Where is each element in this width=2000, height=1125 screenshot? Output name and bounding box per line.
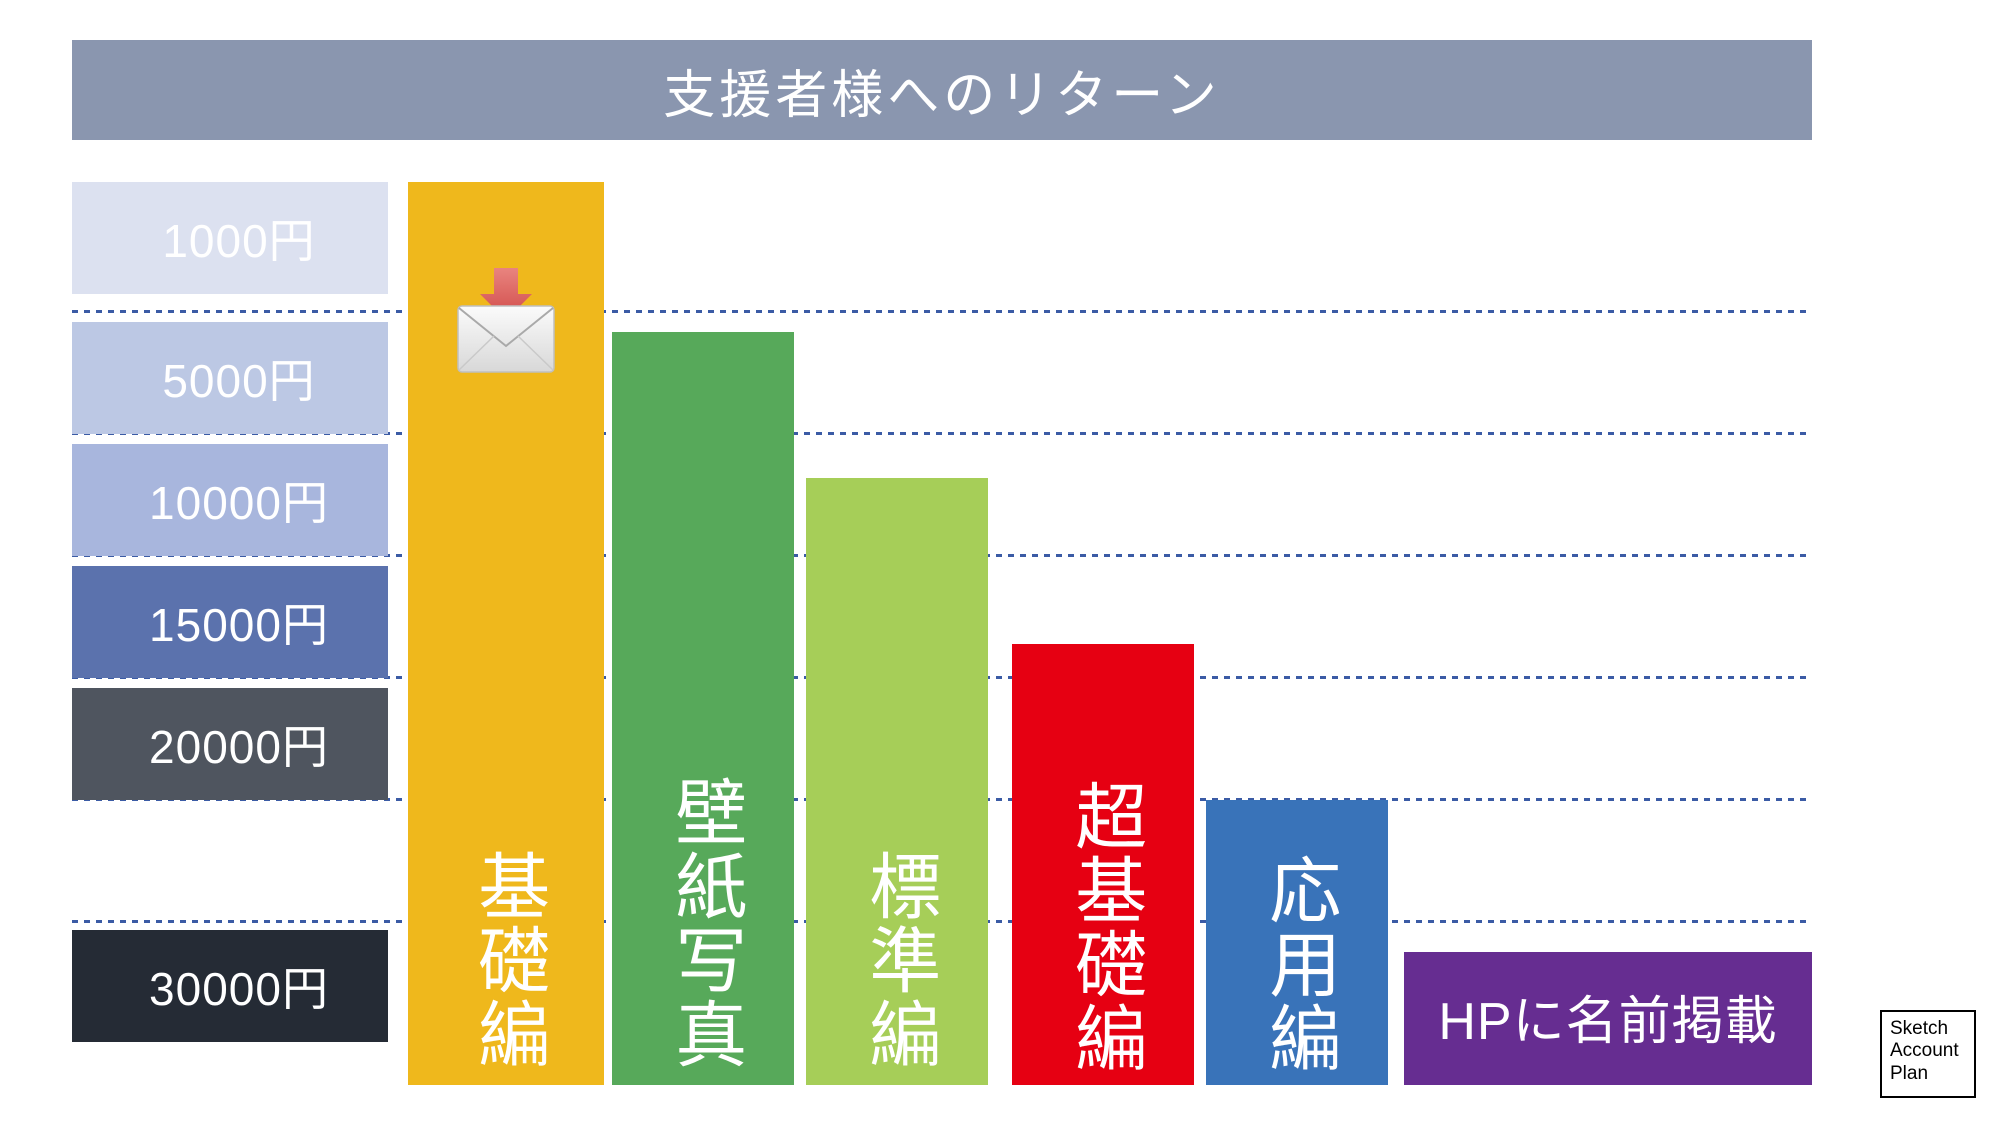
bar-label: HPに名前掲載	[1438, 979, 1777, 1054]
tier-1000[interactable]: 1000円	[72, 182, 388, 294]
bar-oyo-hen[interactable]: 応用編	[1206, 800, 1388, 1085]
bar-label: 超基礎編	[1066, 779, 1139, 1075]
sketch-note-line-3: Plan	[1890, 1063, 1974, 1085]
sketch-note-line-2: Account	[1890, 1040, 1974, 1062]
tier-30000[interactable]: 30000円	[72, 930, 388, 1042]
tier-label: 20000円	[149, 711, 329, 777]
bar-hyojun-hen[interactable]: 標準編	[806, 478, 988, 1085]
tier-label: 10000円	[149, 467, 329, 533]
sketch-account-plan-note: Sketch Account Plan	[1880, 1010, 1976, 1098]
tier-5000[interactable]: 5000円	[72, 322, 388, 434]
tier-label: 1000円	[162, 205, 315, 271]
bar-label: 基礎編	[469, 849, 542, 1071]
tier-label: 15000円	[149, 589, 329, 655]
gridline-1	[72, 310, 1812, 313]
bar-label: 応用編	[1260, 853, 1333, 1075]
incoming-envelope-icon	[444, 266, 568, 382]
page-title: 支援者様へのリターン	[663, 53, 1220, 128]
tier-label: 5000円	[162, 345, 315, 411]
tier-label: 30000円	[149, 953, 329, 1019]
bar-label: 壁紙写真	[666, 775, 739, 1071]
bar-label: 標準編	[860, 849, 933, 1071]
tier-15000[interactable]: 15000円	[72, 566, 388, 678]
bar-cho-kiso-hen[interactable]: 超基礎編	[1012, 644, 1194, 1085]
tier-20000[interactable]: 20000円	[72, 688, 388, 800]
tier-10000[interactable]: 10000円	[72, 444, 388, 556]
chart-title-banner: 支援者様へのリターン	[72, 40, 1812, 140]
bar-kabegami-shashin[interactable]: 壁紙写真	[612, 332, 794, 1085]
bar-kiso-hen[interactable]: 基礎編	[408, 182, 604, 1085]
sketch-note-line-1: Sketch	[1890, 1018, 1974, 1040]
bar-hp-namae-keisai[interactable]: HPに名前掲載	[1404, 952, 1812, 1085]
